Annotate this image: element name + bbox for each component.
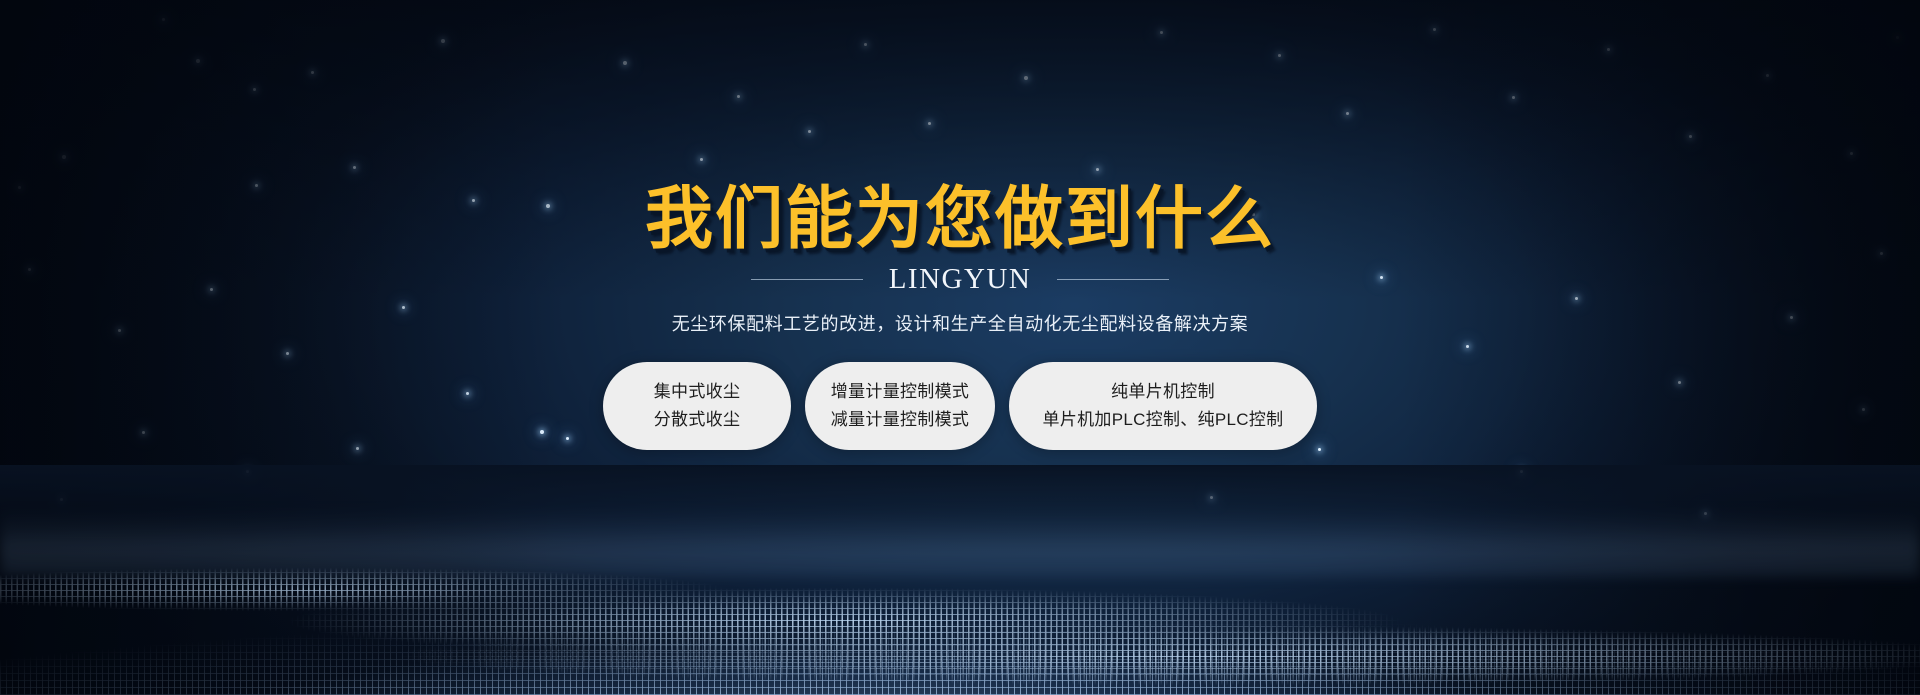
banner-description: 无尘环保配料工艺的改进，设计和生产全自动化无尘配料设备解决方案 — [0, 310, 1920, 336]
divider-line-left — [751, 279, 863, 280]
hero-banner: 我们能为您做到什么 LINGYUN 无尘环保配料工艺的改进，设计和生产全自动化无… — [0, 0, 1920, 695]
feature-card-dust-collection[interactable]: 集中式收尘 分散式收尘 — [603, 362, 791, 450]
card-line-secondary: 减量计量控制模式 — [831, 406, 969, 434]
feature-card-control-system[interactable]: 纯单片机控制 单片机加PLC控制、纯PLC控制 — [1009, 362, 1317, 450]
card-line-primary: 增量计量控制模式 — [831, 378, 969, 406]
divider-line-right — [1057, 279, 1169, 280]
card-line-secondary: 分散式收尘 — [654, 406, 741, 434]
banner-headline: 我们能为您做到什么 — [0, 185, 1920, 253]
card-line-primary: 集中式收尘 — [654, 378, 741, 406]
banner-content: 我们能为您做到什么 LINGYUN 无尘环保配料工艺的改进，设计和生产全自动化无… — [0, 0, 1920, 695]
brand-name-en: LINGYUN — [889, 263, 1032, 296]
card-line-secondary: 单片机加PLC控制、纯PLC控制 — [1043, 406, 1284, 434]
feature-card-metering-mode[interactable]: 增量计量控制模式 减量计量控制模式 — [805, 362, 995, 450]
feature-card-list: 集中式收尘 分散式收尘 增量计量控制模式 减量计量控制模式 纯单片机控制 单片机… — [0, 362, 1920, 450]
brand-subtitle-row: LINGYUN — [0, 263, 1920, 296]
card-line-primary: 纯单片机控制 — [1111, 378, 1215, 406]
